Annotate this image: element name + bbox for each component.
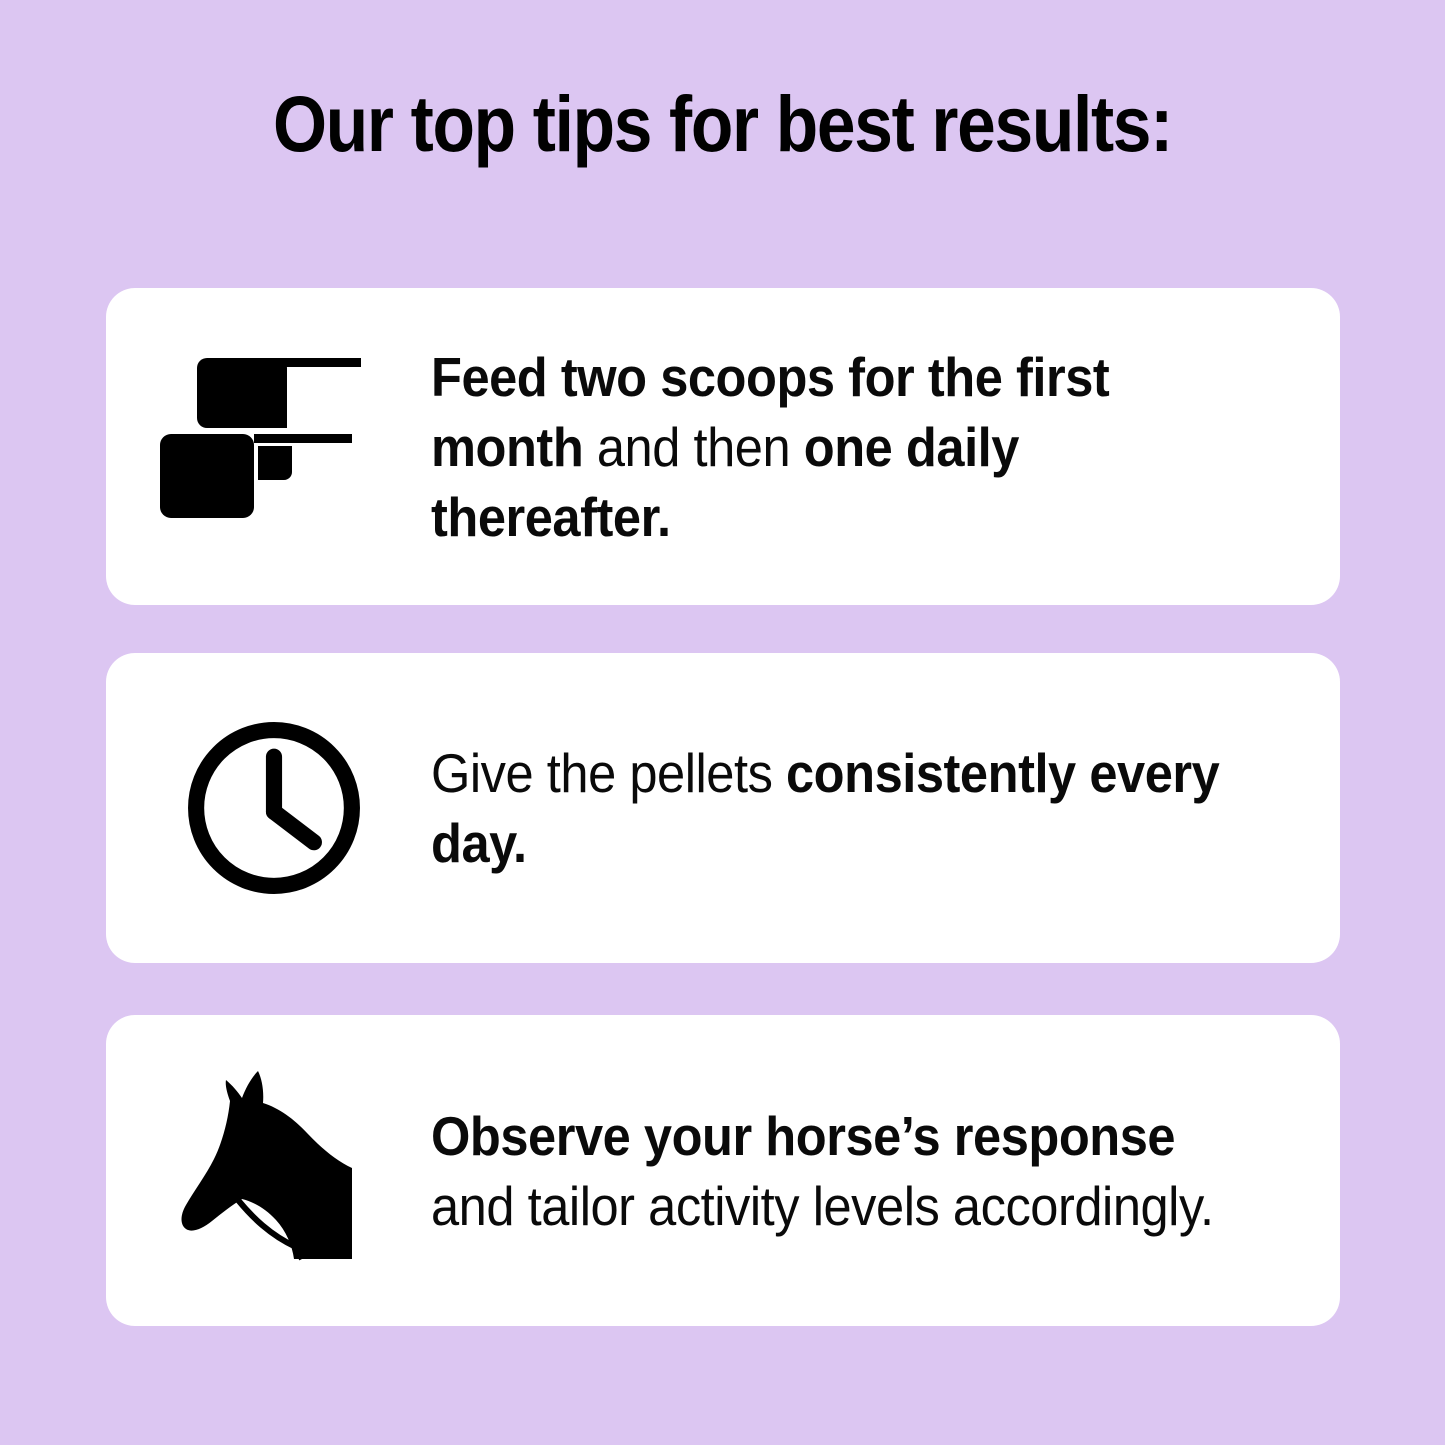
tip-card-feeding: Feed two scoops for the first month and …	[106, 288, 1340, 605]
tip-card-consistency: Give the pellets consistently every day.	[106, 653, 1340, 963]
tip-card-observation: Observe your horse’s response and tailor…	[106, 1015, 1340, 1326]
two-scoops-icon	[106, 288, 431, 605]
tip-text-consistency: Give the pellets consistently every day.	[431, 738, 1267, 878]
clock-icon	[106, 653, 431, 963]
tip-text-observation: Observe your horse’s response and tailor…	[431, 1101, 1267, 1241]
tip-text-feeding: Feed two scoops for the first month and …	[431, 342, 1267, 552]
tip-segment: Observe your horse’s response	[431, 1105, 1175, 1167]
tip-segment: Give the pellets	[431, 742, 786, 804]
tip-segment: and tailor activity levels accordingly.	[431, 1175, 1214, 1237]
tip-segment: and then	[583, 416, 803, 478]
page-title: Our top tips for best results:	[87, 76, 1359, 172]
horse-head-icon	[106, 1015, 431, 1326]
